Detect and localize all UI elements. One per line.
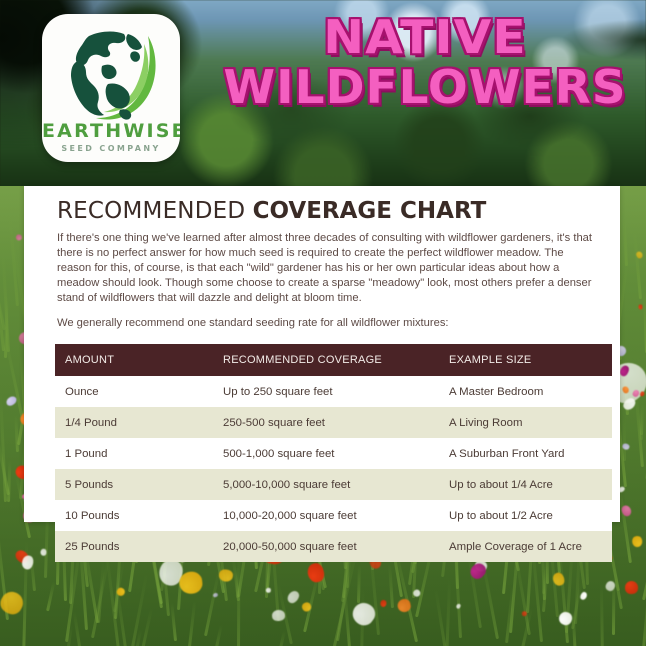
cell-example: A Master Bedroom <box>439 376 612 407</box>
cell-amount: Ounce <box>55 376 213 407</box>
cell-coverage: 10,000-20,000 square feet <box>213 500 439 531</box>
cell-coverage: 500-1,000 square feet <box>213 438 439 469</box>
coverage-chart-card: RECOMMENDED COVERAGE CHART If there's on… <box>24 186 620 522</box>
cell-example: A Suburban Front Yard <box>439 438 612 469</box>
hero-title: NATIVE WILDFLOWERS <box>212 16 638 109</box>
column-header-amount: AMOUNT <box>55 344 213 376</box>
cell-coverage: 5,000-10,000 square feet <box>213 469 439 500</box>
cell-amount: 10 Pounds <box>55 500 213 531</box>
table-row: Ounce Up to 250 square feet A Master Bed… <box>55 376 612 407</box>
cell-coverage: 20,000-50,000 square feet <box>213 531 439 562</box>
hero-title-line2: WILDFLOWERS <box>208 66 643 108</box>
card-lead-in-text: We generally recommend one standard seed… <box>57 317 597 329</box>
cell-example: Up to about 1/2 Acre <box>439 500 612 531</box>
table-row: 25 Pounds 20,000-50,000 square feet Ampl… <box>55 531 612 562</box>
cell-example: Ample Coverage of 1 Acre <box>439 531 612 562</box>
column-header-recommended-coverage: RECOMMENDED COVERAGE <box>213 344 439 376</box>
globe-leaf-icon <box>56 22 168 126</box>
cell-amount: 25 Pounds <box>55 531 213 562</box>
column-header-example-size: EXAMPLE SIZE <box>439 344 612 376</box>
hero-title-line1: NATIVE <box>199 16 646 58</box>
coverage-table: AMOUNT RECOMMENDED COVERAGE EXAMPLE SIZE… <box>55 344 612 562</box>
table-header-row: AMOUNT RECOMMENDED COVERAGE EXAMPLE SIZE <box>55 344 612 376</box>
cell-example: A Living Room <box>439 407 612 438</box>
cell-coverage: Up to 250 square feet <box>213 376 439 407</box>
logo-tagline-text: SEED COMPANY <box>42 144 180 153</box>
card-title-bold: COVERAGE CHART <box>253 198 487 224</box>
cell-coverage: 250-500 square feet <box>213 407 439 438</box>
table-row: 1 Pound 500-1,000 square feet A Suburban… <box>55 438 612 469</box>
card-paragraph: If there's one thing we've learned after… <box>57 231 592 306</box>
table-row: 10 Pounds 10,000-20,000 square feet Up t… <box>55 500 612 531</box>
cell-example: Up to about 1/4 Acre <box>439 469 612 500</box>
cell-amount: 5 Pounds <box>55 469 213 500</box>
card-title: RECOMMENDED COVERAGE CHART <box>57 198 486 224</box>
table-row: 1/4 Pound 250-500 square feet A Living R… <box>55 407 612 438</box>
earthwise-logo: EARTHWISE SEED COMPANY <box>42 14 180 162</box>
cell-amount: 1/4 Pound <box>55 407 213 438</box>
poster-root: EARTHWISE SEED COMPANY NATIVE WILDFLOWER… <box>0 0 646 646</box>
table-row: 5 Pounds 5,000-10,000 square feet Up to … <box>55 469 612 500</box>
logo-brand-text: EARTHWISE <box>42 120 180 142</box>
cell-amount: 1 Pound <box>55 438 213 469</box>
card-title-light: RECOMMENDED <box>57 198 245 224</box>
